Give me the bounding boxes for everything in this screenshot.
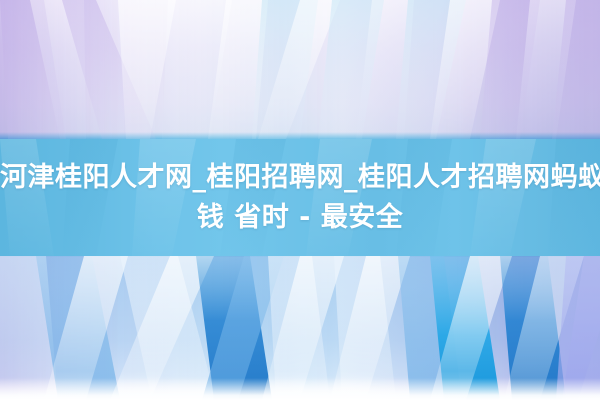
promo-banner: 河津桂阳人才网_桂阳招聘网_桂阳人才招聘网蚂蚁-省 钱 省时 - 最安全: [0, 0, 600, 400]
headline-line-2: 钱 省时 - 最安全: [0, 198, 600, 238]
headline-line-1: 河津桂阳人才网_桂阳招聘网_桂阳人才招聘网蚂蚁-省: [0, 162, 600, 193]
bottom-fade-overlay: [0, 378, 600, 400]
banner-headline: 河津桂阳人才网_桂阳招聘网_桂阳人才招聘网蚂蚁-省 钱 省时 - 最安全: [0, 158, 600, 238]
